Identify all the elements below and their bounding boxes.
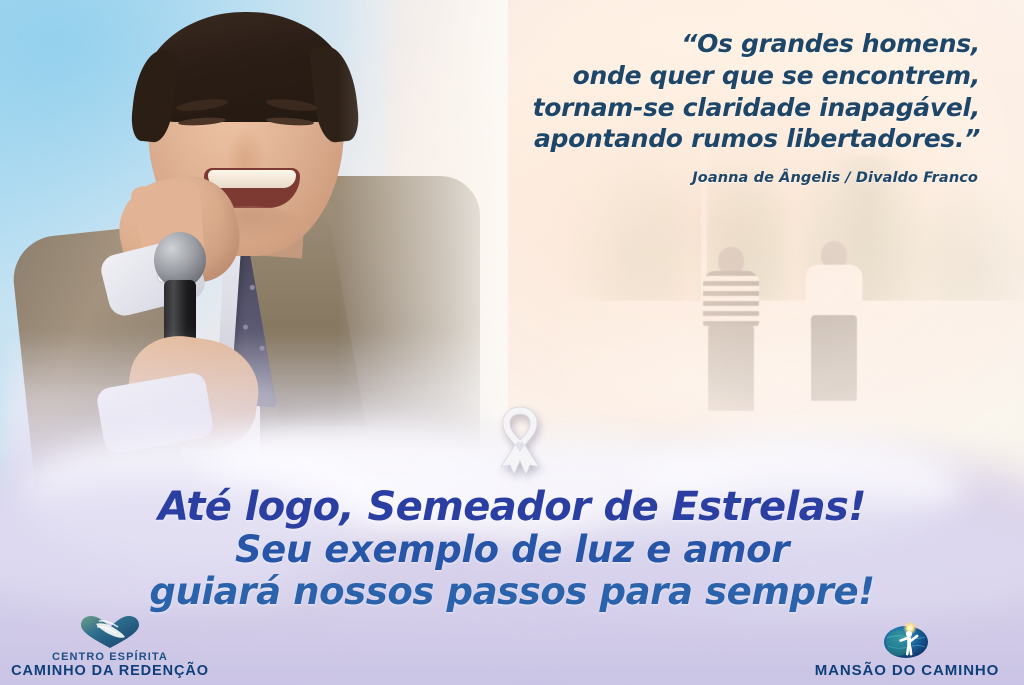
logo-mansao-do-caminho: MANSÃO DO CAMINHO: [802, 622, 1012, 679]
heart-hands-icon: [79, 615, 141, 649]
quote-line-1: “Os grandes homens,: [420, 28, 980, 60]
person-torso: [806, 265, 862, 317]
foliage-icon: [917, 179, 1024, 318]
memorial-poster: “Os grandes homens, onde quer que se enc…: [0, 0, 1024, 685]
hair: [140, 12, 352, 122]
person-legs: [708, 325, 754, 411]
logo-left-line-2: CAMINHO DA REDENÇÃO: [10, 663, 210, 679]
globe-figure-icon: [879, 622, 935, 660]
logo-right-line-2: MANSÃO DO CAMINHO: [802, 662, 1012, 679]
teeth: [208, 170, 296, 188]
message-line-1: Até logo, Semeador de Estrelas!: [0, 486, 1024, 528]
quote-line-3: tornam-se claridade inapagável,: [420, 92, 980, 124]
message-line-2: Seu exemplo de luz e amor: [0, 530, 1024, 569]
message-line-3: guiará nossos passos para sempre!: [0, 572, 1024, 611]
portrait-divaldo-franco: [8, 0, 478, 470]
quote-line-2: onde quer que se encontrem,: [420, 60, 980, 92]
logo-centro-espirita: CENTRO ESPÍRITA CAMINHO DA REDENÇÃO: [10, 615, 210, 679]
white-ribbon-icon: [489, 405, 551, 483]
background-scene-photo: [560, 150, 1024, 440]
quote-line-4: apontando rumos libertadores.”: [420, 123, 980, 155]
scene-person-white-shirt: [804, 241, 864, 417]
person-torso: [703, 271, 759, 327]
quote-text: “Os grandes homens, onde quer que se enc…: [420, 28, 980, 155]
main-message: Até logo, Semeador de Estrelas! Seu exem…: [0, 486, 1024, 611]
logo-left-line-1: CENTRO ESPÍRITA: [10, 651, 210, 663]
portrait-bottom-fade: [8, 330, 498, 490]
quote-attribution: Joanna de Ângelis / Divaldo Franco: [458, 170, 978, 186]
ground: [560, 312, 1024, 440]
person-legs: [811, 315, 857, 401]
scene-person-striped-shirt: [701, 247, 761, 417]
